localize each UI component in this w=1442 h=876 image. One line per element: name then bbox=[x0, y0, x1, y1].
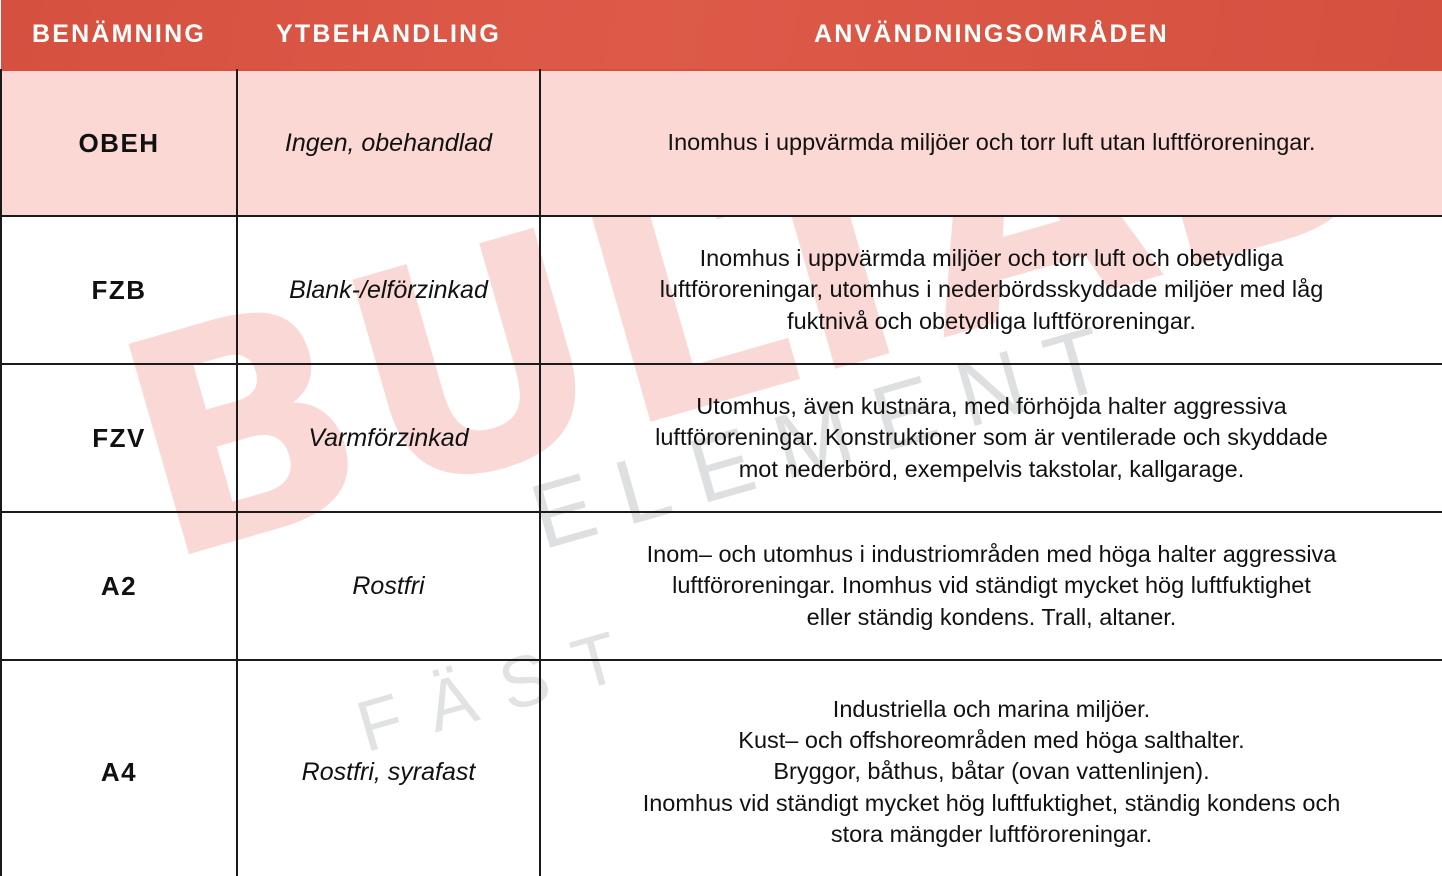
description-line: mot nederbörd, exempelvis takstolar, kal… bbox=[553, 454, 1430, 485]
table-row: A4 Rostfri, syrafast Industriella och ma… bbox=[1, 660, 1442, 876]
surface-treatment-table: BENÄMNING YTBEHANDLING ANVÄNDNINGSOMRÅDE… bbox=[0, 0, 1442, 876]
description-line: Utomhus, även kustnära, med förhöjda hal… bbox=[553, 391, 1430, 422]
table-row: FZB Blank-/elförzinkad Inomhus i uppvärm… bbox=[1, 216, 1442, 364]
specification-table-page: BULTAB ELEMENT FÄST BENÄMNING YTBEHANDLI… bbox=[0, 0, 1442, 876]
cell-ytbehandling: Rostfri bbox=[237, 512, 540, 660]
table-row: OBEH Ingen, obehandlad Inomhus i uppvärm… bbox=[1, 70, 1442, 216]
cell-ytbehandling: Blank-/elförzinkad bbox=[237, 216, 540, 364]
table-row: FZV Varmförzinkad Utomhus, även kustnära… bbox=[1, 364, 1442, 512]
cell-benamning: A2 bbox=[1, 512, 237, 660]
description-line: Inomhus i uppvärmda miljöer och torr luf… bbox=[553, 243, 1430, 274]
description-line: fuktnivå och obetydliga luftföroreningar… bbox=[553, 306, 1430, 337]
cell-benamning: OBEH bbox=[1, 70, 237, 216]
column-header-ytbehandling: YTBEHANDLING bbox=[237, 0, 540, 70]
cell-benamning: FZB bbox=[1, 216, 237, 364]
table-header-row: BENÄMNING YTBEHANDLING ANVÄNDNINGSOMRÅDE… bbox=[1, 0, 1442, 70]
description-line: Inomhus vid ständigt mycket hög luftfukt… bbox=[553, 788, 1430, 819]
description-line: Industriella och marina miljöer. bbox=[553, 694, 1430, 725]
cell-ytbehandling: Varmförzinkad bbox=[237, 364, 540, 512]
cell-benamning: FZV bbox=[1, 364, 237, 512]
table-body: OBEH Ingen, obehandlad Inomhus i uppvärm… bbox=[1, 70, 1442, 876]
description-line: luftföroreningar. Konstruktioner som är … bbox=[553, 422, 1430, 453]
description-line: luftföroreningar, utomhus i nederbördssk… bbox=[553, 274, 1430, 305]
description-line: Kust– och offshoreområden med höga salth… bbox=[553, 725, 1430, 756]
cell-anvandningsomraden: Inomhus i uppvärmda miljöer och torr luf… bbox=[540, 70, 1442, 216]
description-line: stora mängder luftföroreningar. bbox=[553, 819, 1430, 850]
description-line: eller ständig kondens. Trall, altaner. bbox=[553, 602, 1430, 633]
column-header-anvandningsomraden: ANVÄNDNINGSOMRÅDEN bbox=[540, 0, 1442, 70]
description-line: Inomhus i uppvärmda miljöer och torr luf… bbox=[553, 127, 1430, 158]
cell-ytbehandling: Rostfri, syrafast bbox=[237, 660, 540, 876]
cell-benamning: A4 bbox=[1, 660, 237, 876]
table-row: A2 Rostfri Inom– och utomhus i industrio… bbox=[1, 512, 1442, 660]
cell-anvandningsomraden: Industriella och marina miljöer. Kust– o… bbox=[540, 660, 1442, 876]
cell-anvandningsomraden: Inomhus i uppvärmda miljöer och torr luf… bbox=[540, 216, 1442, 364]
cell-anvandningsomraden: Inom– och utomhus i industriområden med … bbox=[540, 512, 1442, 660]
description-line: Bryggor, båthus, båtar (ovan vattenlinje… bbox=[553, 756, 1430, 787]
cell-ytbehandling: Ingen, obehandlad bbox=[237, 70, 540, 216]
description-line: Inom– och utomhus i industriområden med … bbox=[553, 539, 1430, 570]
description-line: luftföroreningar. Inomhus vid ständigt m… bbox=[553, 570, 1430, 601]
table-header: BENÄMNING YTBEHANDLING ANVÄNDNINGSOMRÅDE… bbox=[1, 0, 1442, 70]
cell-anvandningsomraden: Utomhus, även kustnära, med förhöjda hal… bbox=[540, 364, 1442, 512]
column-header-benamning: BENÄMNING bbox=[1, 0, 237, 70]
